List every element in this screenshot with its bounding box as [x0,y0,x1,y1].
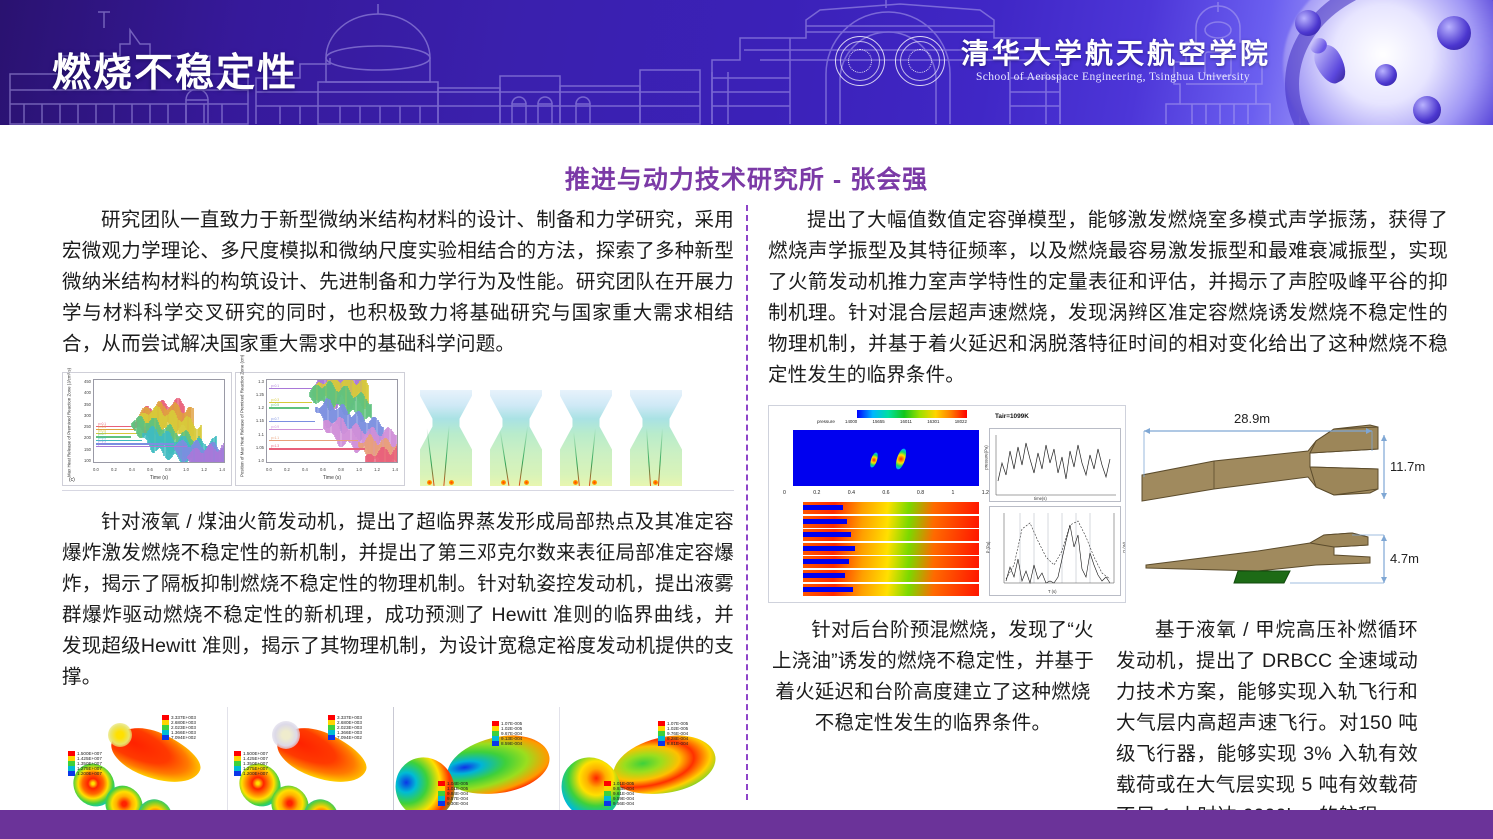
dimension-height: 4.7m [1390,551,1419,566]
cfd-plume-case-1: 1.500E+007 1.425E+007 1.350E+007 1.275E+… [62,707,225,825]
right-caption-row: 针对后台阶预混燃烧，发现了“火上浇油”诱发的燃烧不稳定性，并基于着火延迟和台阶高… [768,615,1448,832]
ytick: 100 [84,458,91,463]
nozzle-thumb-2 [486,390,546,486]
colorbar-value: 7.094E+002 [171,735,196,740]
temperature-strip [803,556,979,568]
slide-footer-bar [0,810,1493,839]
xtick: 0.6 [320,467,326,472]
signal2-y-label: P (Pa) [985,542,990,554]
temperature-strip [803,502,979,514]
ytick: 1.15 [256,418,264,423]
signal-x-label: time(s) [1034,496,1047,501]
dimension-span: 11.7m [1390,459,1425,474]
xtick: 1.0 [183,467,189,472]
right-column: 提出了大幅值数值定容弹模型，能够激发燃烧室多模式声学振荡，获得了燃烧声学振型及其… [768,205,1448,832]
xtick: 0.2 [111,467,117,472]
xtick: 0.8 [338,467,344,472]
chart2-x-ticks: 0.0 0.2 0.4 0.6 0.8 1.0 1.2 1.4 [266,467,398,472]
max-heat-release-chart: Max Heat Release of Premixed Reaction Zo… [62,372,232,486]
signal2-y-label-right: Q (W) [1122,542,1126,553]
ytick: 1.0 [258,458,264,463]
signal2-x-label: T (s) [1048,589,1057,594]
xtick: 0.0 [93,467,99,472]
ytick: 350 [84,402,91,407]
colorbar-title: pressure [817,419,835,424]
column-divider [746,205,748,800]
temperature-strip-stack [803,502,979,597]
xtick: 0.6 [882,490,889,496]
colorbar-tick: 16011 [900,419,912,424]
cfd2-colorbar-a: 1.500E+007 1.425E+007 1.350E+007 1.275E+… [234,751,268,776]
series-legend-label: p=0.1 [271,384,279,388]
series-baseline [269,448,365,449]
chart2-x-label: Time (s) [266,475,398,481]
colorbar-value: 1.200E+007 [77,771,102,776]
cfd2-colorbar-b: 3.337E+003 2.680E+003 2.023E+003 1.366E+… [328,715,362,740]
xtick: 0.0 [266,467,272,472]
series-baseline [269,388,313,389]
xtick: 0.4 [302,467,308,472]
series-legend-label: p=1.3 [271,444,279,448]
pressure-time-signal: time(s) pressure(Pa) [989,428,1121,502]
space-artwork [1253,0,1493,125]
hypersonic-vehicle-schematic: 28.9m 11.7m 4.7m [1138,405,1428,601]
chart2-y-ticks: 1.3 1.25 1.2 1.15 1.1 1.05 1.0 [248,379,264,463]
aerospace-school-seal-icon [895,36,945,86]
nozzle-thumb-3 [556,390,616,486]
ytick: 1.05 [256,445,264,450]
temperature-strip [803,543,979,555]
xtick: 0.8 [165,467,171,472]
acoustic-mode-shape-2: 1.07E-005 1.02E-005 9.76E-004 9.28E-004 … [559,707,723,825]
left-paragraph-2: 针对液氧 / 煤油火箭发动机，提出了超临界蒸发形成局部热点及其准定容爆炸激发燃烧… [62,507,734,693]
xtick: 0 [783,490,786,496]
pressure-colorbar-icon [857,410,967,418]
temperature-strip [803,516,979,528]
xtick: 0.4 [129,467,135,472]
chart1-y-label: Max Heat Release of Premixed Reaction Zo… [67,381,72,477]
series-baseline [269,440,358,441]
mode1-colorbar-b: 1.04E-005 1.01E-005 9.84E-004 9.57E-004 … [438,781,468,806]
chart1-x-label: Time (s) [93,475,225,481]
series-baseline [269,421,315,422]
xtick: 1.2 [982,490,989,496]
left-paragraph-1: 研究团队一直致力于新型微纳米结构材料的设计、制备和力学研究，采用宏微观力学理论、… [62,205,734,360]
xtick: 0.2 [284,467,290,472]
caption-right: 基于液氧 / 甲烷高压补燃循环发动机，提出了 DRBCC 全速域动力技术方案，能… [1116,615,1418,832]
institution-logo-group: 清华大学航天航空学院 School of Aerospace Engineeri… [835,36,1271,86]
chart1-plot-area: p=0.1p=0.3p=0.5p=0.7p=0.9p=1.1p=1.3 [93,379,225,463]
xtick: 0.4 [848,490,855,496]
series-legend-label: p=0.5 [271,403,279,407]
colorbar-value: 9.56E-004 [613,801,634,806]
xtick: 0.6 [147,467,153,472]
left-figure-row-2: 1.500E+007 1.425E+007 1.350E+007 1.275E+… [62,707,734,825]
colorbar-tick: 14000 [845,419,857,424]
mode1-colorbar-a: 1.07E-005 1.02E-005 9.67E-004 9.13E-004 … [492,721,522,746]
xtick: 0.8 [917,490,924,496]
acoustic-mode-shape-1: 1.07E-005 1.02E-005 9.67E-004 9.13E-004 … [393,707,557,825]
position-max-heat-release-chart: Position of Max Heat Release of Premixed… [235,372,405,486]
nozzle-contour-thumbnails [416,390,686,486]
series-legend-label: p=1.3 [98,442,106,446]
series-legend-label: p=0.3 [271,398,279,402]
ytick: 1.2 [258,405,264,410]
nozzle-thumb-4 [626,390,686,486]
ytick: 200 [84,435,91,440]
oscillation-trace [370,404,372,418]
chart1-panel-label: (c) [69,477,75,483]
series-baseline [269,407,309,408]
series-legend-label: p=0.7 [271,417,279,421]
series-baseline [96,443,174,444]
page-title: 燃烧不稳定性 [52,42,298,98]
ytick: 450 [84,379,91,384]
left-column: 研究团队一直致力于新型微纳米结构材料的设计、制备和力学研究，采用宏微观力学理论、… [62,205,734,825]
panel-x-axis: 0 0.2 0.4 0.6 0.8 1 1.2 [783,490,989,496]
ytick: 1.1 [258,432,264,437]
logo-english-text: School of Aerospace Engineering, Tsinghu… [976,71,1250,83]
xtick: 1.2 [374,467,380,472]
logo-chinese-text: 清华大学航天航空学院 [961,39,1271,70]
chart1-x-ticks: 0.0 0.2 0.4 0.6 0.8 1.0 1.2 1.4 [93,467,225,472]
xtick: 0.2 [813,490,820,496]
pressure-heat-release-signal: T (s) P (Pa) Q (W) [989,506,1121,596]
figure-rule-1 [62,490,734,491]
ytick: 300 [84,413,91,418]
supersonic-combustor-panel: pressure 14000 15655 16011 16301 18022 T… [768,405,1126,603]
left-figure-row-1: Max Heat Release of Premixed Reaction Zo… [62,372,734,486]
chart1-y-ticks: 450 400 350 300 250 200 150 100 [75,379,91,463]
ytick: 400 [84,390,91,395]
chart2-plot-area: p=0.1p=0.3p=0.5p=0.7p=0.9p=1.1p=1.3 [266,379,398,463]
temperature-strip [803,529,979,541]
mode2-colorbar-a: 1.07E-005 1.02E-005 9.76E-004 9.28E-004 … [658,721,688,746]
ytick: 1.3 [258,379,264,384]
right-paragraph-1: 提出了大幅值数值定容弹模型，能够激发燃烧室多模式声学振荡，获得了燃烧声学振型及其… [768,205,1448,391]
xtick: 1.0 [356,467,362,472]
xtick: 1.4 [219,467,225,472]
cfd-plume-case-2: 1.500E+007 1.425E+007 1.350E+007 1.275E+… [227,707,391,825]
oscillation-trace [224,442,225,463]
ytick: 250 [84,424,91,429]
colorbar-ticks: 14000 15655 16011 16301 18022 [845,419,967,424]
dimension-length: 28.9m [1234,411,1270,426]
caption-left: 针对后台阶预混燃烧，发现了“火上浇油”诱发的燃烧不稳定性，并基于着火延迟和台阶高… [768,615,1098,832]
ytick: 150 [84,447,91,452]
temperature-strip [803,584,979,596]
condition-label: Tair=1099K [995,413,1029,420]
temperature-strip [803,570,979,582]
colorbar-value: 9.30E-004 [447,801,468,806]
series-legend-label: p=1.1 [271,436,279,440]
colorbar-tick: 18022 [955,419,967,424]
xtick: 1.2 [201,467,207,472]
nozzle-thumb-1 [416,390,476,486]
right-figure-row: pressure 14000 15655 16011 16301 18022 T… [768,405,1448,603]
colorbar-tick: 15655 [873,419,885,424]
chart2-y-label: Position of Max Heat Release of Premixed… [240,381,245,477]
ytick: 1.25 [256,392,264,397]
xtick: 1 [951,490,954,496]
signal-y-label: pressure(Pa) [984,445,989,469]
cfd1-colorbar-a: 1.500E+007 1.425E+007 1.350E+007 1.275E+… [68,751,102,776]
series-baseline [96,446,187,447]
cfd1-colorbar-b: 3.337E+003 2.680E+003 2.023E+003 1.366E+… [162,715,196,740]
pressure-field-image [793,430,979,486]
series-legend-label: p=0.9 [271,425,279,429]
colorbar-value: 1.200E+007 [243,771,268,776]
institute-title: 推进与动力技术研究所 - 张会强 [0,160,1493,196]
colorbar-value: 7.094E+002 [337,735,362,740]
series-baseline [269,429,323,430]
presentation-slide: 燃烧不稳定性 清华大学航天航空学院 School of Aerospace En… [0,0,1493,839]
xtick: 1.4 [392,467,398,472]
mode2-colorbar-b: 1.01E-005 9.93E-004 9.61E-004 9.59E-004 … [604,781,634,806]
tsinghua-university-seal-icon [835,36,885,86]
colorbar-tick: 16301 [927,419,939,424]
colorbar-value: 8.81E-004 [667,741,688,746]
oscillation-trace [397,445,398,463]
slide-header: 燃烧不稳定性 清华大学航天航空学院 School of Aerospace En… [0,0,1493,125]
colorbar-value: 8.59E-004 [501,741,522,746]
